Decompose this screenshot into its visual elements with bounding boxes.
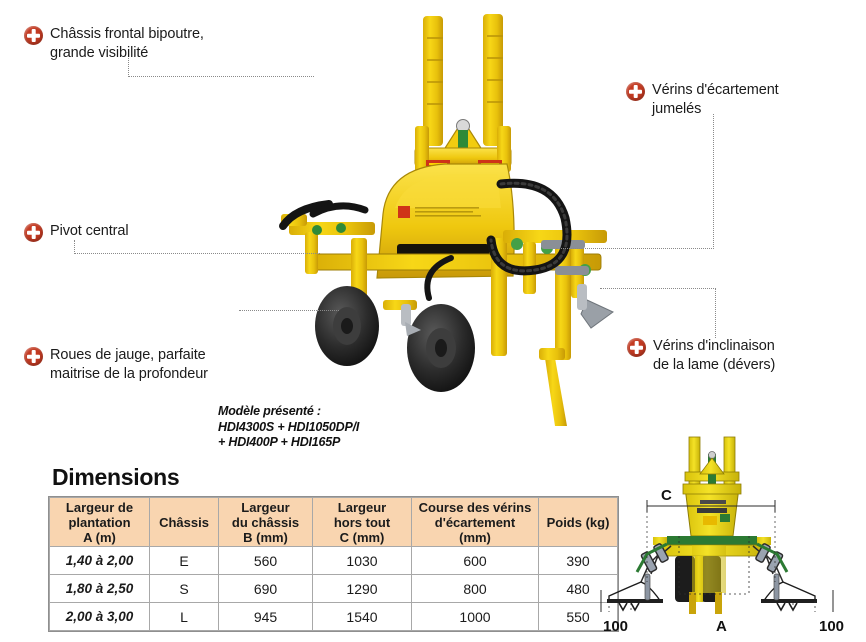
cell-course-verins: 1000 (412, 603, 539, 631)
leader-line-pivot-central-v (74, 240, 75, 254)
callout-label-verins-ecartement: Vérins d'écartement jumelés (652, 81, 779, 119)
leader-line-chassis-frontal (128, 76, 314, 77)
leader-line-pivot-central (74, 253, 320, 254)
callout-label-pivot-central: Pivot central (50, 222, 129, 241)
technical-front-view-drawing: C A 100 100 (597, 432, 863, 640)
leader-line-verins-inclinaison-v (715, 288, 716, 338)
dimensions-title: Dimensions (52, 464, 179, 491)
red-cross-bullet-icon (24, 26, 43, 45)
callout-label-chassis-frontal: Châssis frontal bipoutre, grande visibil… (50, 25, 204, 63)
dimension-label-100-left: 100 (603, 618, 628, 635)
cell-chassis: E (150, 547, 219, 575)
table-header-course-verins: Course des vérins d'écartement (mm) (412, 498, 539, 547)
callout-label-verins-inclinaison: Vérins d'inclinaison de la lame (dévers) (653, 337, 775, 375)
product-photo (255, 8, 650, 433)
callout-roues-de-jauge: Roues de jauge, parfaite maitrise de la … (24, 346, 208, 384)
red-cross-bullet-icon (627, 338, 646, 357)
table-header-largeur-hors-tout: Largeur hors tout C (mm) (313, 498, 412, 547)
cell-largeur-hors-tout: 1540 (313, 603, 412, 631)
red-cross-bullet-icon (626, 82, 645, 101)
cell-chassis: S (150, 575, 219, 603)
red-cross-bullet-icon (24, 223, 43, 242)
leader-line-verins-ecartement (556, 248, 714, 249)
cell-largeur-chassis: 690 (219, 575, 313, 603)
product-sheet-page: Châssis frontal bipoutre, grande visibil… (0, 0, 866, 642)
cell-chassis: L (150, 603, 219, 631)
table-row: 1,80 à 2,50 S 690 1290 800 480 (50, 575, 618, 603)
cell-largeur-chassis: 945 (219, 603, 313, 631)
callout-verins-inclinaison: Vérins d'inclinaison de la lame (dévers) (627, 337, 775, 375)
dimensions-table: Largeur de plantation A (m) Châssis Larg… (49, 497, 618, 631)
cell-largeur-hors-tout: 1030 (313, 547, 412, 575)
table-header-row: Largeur de plantation A (m) Châssis Larg… (50, 498, 618, 547)
dimension-label-100-right: 100 (819, 618, 844, 635)
callout-label-roues-de-jauge: Roues de jauge, parfaite maitrise de la … (50, 346, 208, 384)
callout-pivot-central: Pivot central (24, 222, 129, 242)
cell-largeur-plantation: 2,00 à 3,00 (50, 603, 150, 631)
cell-course-verins: 800 (412, 575, 539, 603)
table-row: 2,00 à 3,00 L 945 1540 1000 550 (50, 603, 618, 631)
leader-line-roues-de-jauge (239, 310, 339, 311)
leader-line-verins-inclinaison (600, 288, 716, 289)
dimension-label-a: A (716, 618, 727, 635)
table-row: 1,40 à 2,00 E 560 1030 600 390 (50, 547, 618, 575)
callout-verins-ecartement: Vérins d'écartement jumelés (626, 81, 779, 119)
dimension-label-c: C (661, 487, 672, 504)
table-header-largeur-chassis: Largeur du châssis B (mm) (219, 498, 313, 547)
table-header-largeur-plantation: Largeur de plantation A (m) (50, 498, 150, 547)
cell-largeur-chassis: 560 (219, 547, 313, 575)
table-header-chassis: Châssis (150, 498, 219, 547)
model-caption: Modèle présenté : HDI4300S + HDI1050DP/I… (218, 404, 359, 451)
leader-line-verins-ecartement-v (713, 114, 714, 249)
cell-largeur-hors-tout: 1290 (313, 575, 412, 603)
callout-chassis-frontal: Châssis frontal bipoutre, grande visibil… (24, 25, 204, 63)
red-cross-bullet-icon (24, 347, 43, 366)
cell-course-verins: 600 (412, 547, 539, 575)
cell-largeur-plantation: 1,40 à 2,00 (50, 547, 150, 575)
cell-largeur-plantation: 1,80 à 2,50 (50, 575, 150, 603)
